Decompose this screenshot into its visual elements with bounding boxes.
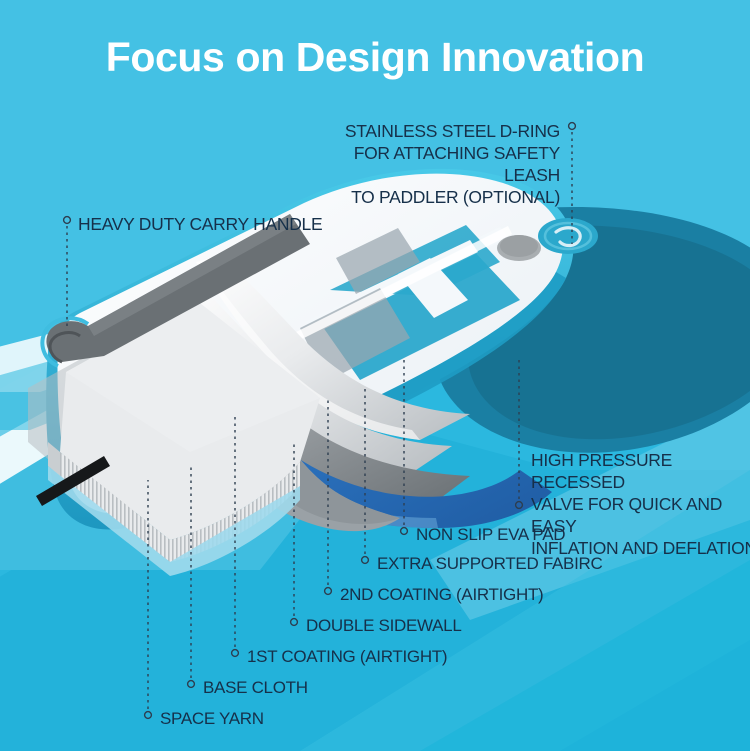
callout-first-coating-airtight: 1ST COATING (AIRTIGHT) [247,646,477,667]
callout-second-coating-airtight: 2ND COATING (AIRTIGHT) [340,584,570,605]
callout-stainless-steel-d-ring: STAINLESS STEEL D-RING FOR ATTACHING SAF… [295,120,560,208]
callout-extra-supported-fabric: EXTRA SUPPORTED FABIRC [377,553,617,574]
infographic-canvas: Focus on Design Innovation STAINLESS STE… [0,0,750,751]
callout-space-yarn: SPACE YARN [160,708,320,729]
callout-non-slip-eva-pad: NON SLIP EVA PAD [416,524,616,545]
callout-base-cloth: BASE CLOTH [203,677,363,698]
callout-heavy-duty-carry-handle: HEAVY DUTY CARRY HANDLE [78,213,338,235]
page-title: Focus on Design Innovation [0,32,750,82]
callout-double-sidewall: DOUBLE SIDEWALL [306,615,506,636]
d-ring-patch [538,218,598,254]
paddle-board-cutaway-illustration [0,0,750,751]
valve-disc [497,235,541,261]
